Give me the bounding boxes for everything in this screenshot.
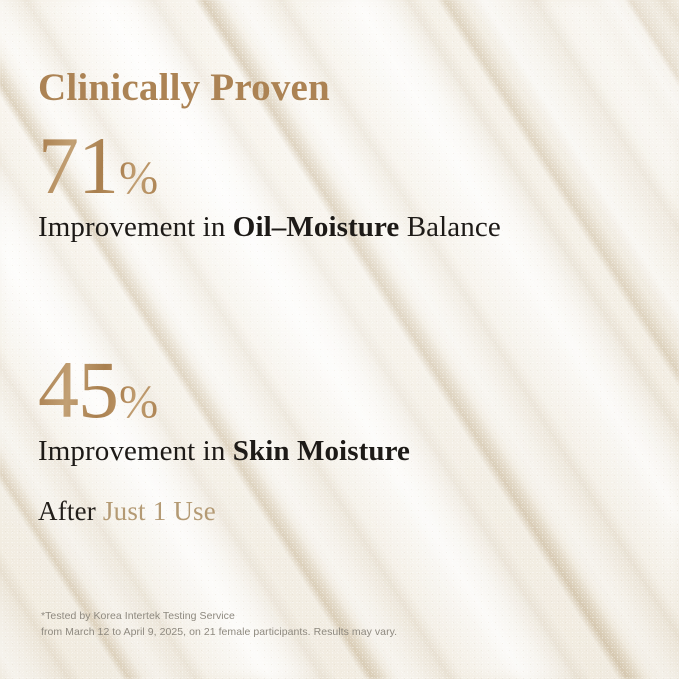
- usage-accent: Just 1 Use: [103, 496, 216, 526]
- stat-block-oil-moisture: 71 % Improvement in Oil–Moisture Balance: [38, 128, 501, 247]
- stat-percent-sign: %: [119, 157, 158, 200]
- footnote-disclaimer: *Tested by Korea Intertek Testing Servic…: [41, 608, 397, 641]
- stat-percent-sign: %: [119, 381, 158, 424]
- stat-figure: 45 %: [38, 352, 410, 427]
- stat-caption-emphasis: Oil–Moisture: [233, 211, 400, 243]
- stat-number: 71: [38, 128, 118, 203]
- footnote-line-1: *Tested by Korea Intertek Testing Servic…: [41, 608, 397, 624]
- stat-figure: 71 %: [38, 128, 501, 203]
- stat-caption: Improvement in Oil–Moisture Balance: [38, 209, 501, 246]
- stat-caption-lead: Improvement in: [38, 435, 233, 467]
- stat-block-skin-moisture: 45 % Improvement in Skin Moisture: [38, 352, 410, 471]
- stat-caption-tail: Balance: [399, 211, 500, 243]
- stat-number: 45: [38, 352, 118, 427]
- footnote-line-2: from March 12 to April 9, 2025, on 21 fe…: [41, 624, 397, 640]
- usage-prefix: After: [38, 496, 103, 526]
- stat-caption: Improvement in Skin Moisture: [38, 433, 410, 470]
- clinical-claims-banner: Clinically Proven 71 % Improvement in Oi…: [0, 0, 679, 679]
- usage-statement: After Just 1 Use: [38, 496, 216, 527]
- stat-caption-emphasis: Skin Moisture: [233, 435, 410, 467]
- content-layer: Clinically Proven 71 % Improvement in Oi…: [0, 0, 679, 679]
- page-title: Clinically Proven: [38, 68, 330, 109]
- stat-caption-lead: Improvement in: [38, 211, 233, 243]
